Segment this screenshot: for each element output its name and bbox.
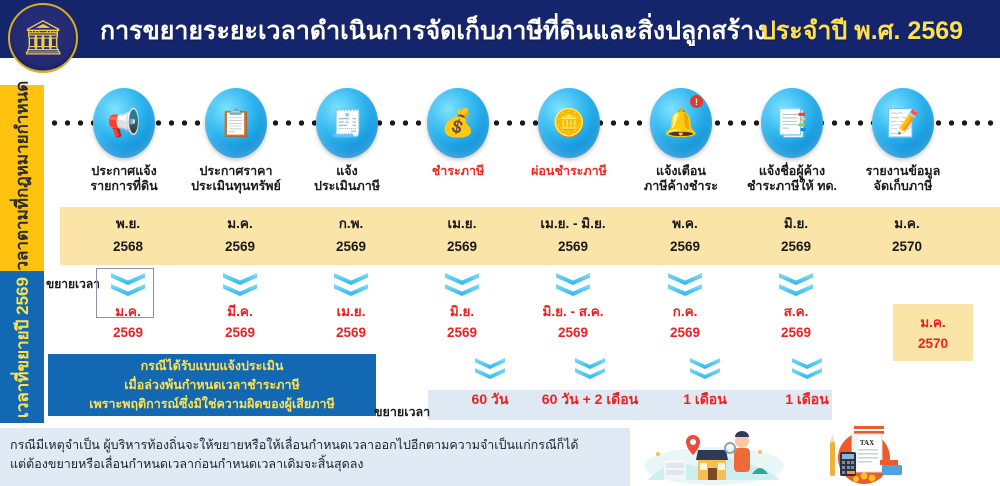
double-chevron-down-icon: [668, 273, 702, 301]
double-chevron-down-icon: [223, 273, 257, 301]
timeline-step-label-line1: ผ่อนชำระภาษี: [513, 164, 625, 179]
tax-calculator-icon-glyph: 🧾: [330, 110, 364, 137]
timeline-step-label: แจ้งเตือนภาษีค้างชำระ: [625, 164, 737, 194]
timeline-step-1: 📢ประกาศแจ้งรายการที่ดิน: [68, 88, 180, 194]
double-chevron-down-icon: [475, 358, 505, 383]
extension-month: มิ.ย. - ส.ค.: [513, 302, 633, 322]
timeline-step-3: 🧾แจ้งประเมินภาษี: [291, 88, 403, 194]
timeline-step-label-line2: ประเมินภาษี: [291, 179, 403, 194]
hand-coin-icon-glyph: 🪙: [552, 110, 586, 137]
statutory-month: พ.ย.: [68, 212, 188, 235]
garuda-emblem-icon: 🏛: [8, 3, 78, 73]
statutory-year: 2569: [736, 235, 856, 258]
statutory-month-cell: เม.ย. - มิ.ย.2569: [513, 212, 633, 258]
timeline-step-label-line1: ชำระภาษี: [402, 164, 514, 179]
double-chevron-down-icon: [334, 273, 368, 301]
statutory-year: 2569: [180, 235, 300, 258]
double-chevron-down-icon: [792, 358, 822, 383]
extension-month: ส.ค.: [736, 302, 856, 322]
tax-document-list-icon: 📑: [761, 88, 823, 158]
duration-text: 1 เดือน: [742, 389, 872, 411]
timeline-step-4: 💰ชำระภาษี: [402, 88, 514, 179]
extension-cell: ม.ค.2569: [68, 273, 188, 343]
footer-note: กรณีมีเหตุจำเป็น ผู้บริหารท้องถิ่นจะให้ข…: [0, 428, 630, 486]
timeline-step-label: ประกาศราคาประเมินทุนทรัพย์: [180, 164, 292, 194]
timeline-step-label: แจ้งชื่อผู้ค้างชำระภาษีให้ ทด.: [736, 164, 848, 194]
hand-coin-icon: 🪙: [538, 88, 600, 158]
statutory-year: 2569: [513, 235, 633, 258]
extension-year: 2569: [291, 323, 411, 343]
statutory-month-cell: ม.ค.2569: [180, 212, 300, 258]
statutory-month: พ.ค.: [625, 212, 745, 235]
money-bag-hand-icon: 💰: [427, 88, 489, 158]
extension-year: 2569: [68, 323, 188, 343]
timeline-step-label-line2: จัดเก็บภาษี: [847, 179, 959, 194]
money-bag-hand-icon-glyph: 💰: [441, 110, 475, 137]
statutory-month-cell: มิ.ย.2569: [736, 212, 856, 258]
page-title-year: ประจำปี พ.ศ. 2569: [760, 11, 963, 51]
alert-bell-icon: 🔔!: [650, 88, 712, 158]
timeline-step-label-line1: แจ้ง: [291, 164, 403, 179]
extension-final-year: 2570: [918, 333, 948, 354]
timeline-step-label-line1: รายงานข้อมูล: [847, 164, 959, 179]
extension-cell: มิ.ย.2569: [402, 273, 522, 343]
duration-row-tag: ขยายเวลา: [374, 402, 430, 422]
timeline-step-label: ผ่อนชำระภาษี: [513, 164, 625, 179]
statutory-month: เม.ย. - มิ.ย.: [513, 212, 633, 235]
footer-note-line-1: กรณีมีเหตุจำเป็น ผู้บริหารท้องถิ่นจะให้ข…: [10, 436, 620, 455]
clipboard-checklist-person-icon-glyph: 📋: [219, 110, 253, 137]
timeline-step-8: 📝รายงานข้อมูลจัดเก็บภาษี: [847, 88, 959, 194]
timeline-step-label-line2: ประเมินทุนทรัพย์: [180, 179, 292, 194]
extension-month: มิ.ย.: [402, 302, 522, 322]
timeline-step-label-line1: แจ้งชื่อผู้ค้าง: [736, 164, 848, 179]
double-chevron-down-icon: [556, 273, 590, 301]
statutory-year: 2568: [68, 235, 188, 258]
duration-text: 60 วัน + 2 เดือน: [525, 389, 655, 411]
sidebar-statutory-period: เวลาตามที่กฎหมายกำหนด: [0, 85, 44, 271]
timeline-step-label-line1: ประกาศแจ้ง: [68, 164, 180, 179]
svg-text:TAX: TAX: [860, 439, 874, 447]
timeline-step-label: ชำระภาษี: [402, 164, 514, 179]
tax-calculator-icon: 🧾: [316, 88, 378, 158]
timeline-step-2: 📋ประกาศราคาประเมินทุนทรัพย์: [180, 88, 292, 194]
statutory-month-cell: พ.ค.2569: [625, 212, 745, 258]
extension-cell: เม.ย.2569: [291, 273, 411, 343]
timeline-step-label-line2: ชำระภาษีให้ ทด.: [736, 179, 848, 194]
tax-document-calculator-illustration: TAX: [800, 424, 920, 486]
extension-final-month: ม.ค.: [920, 312, 945, 333]
extension-month: เม.ย.: [291, 302, 411, 322]
extension-month: ม.ค.: [68, 302, 188, 322]
page-header: 🏛 การขยายระยะเวลาดำเนินการจัดเก็บภาษีที่…: [0, 0, 1000, 58]
extension-year: 2569: [180, 323, 300, 343]
extension-cell: มี.ค.2569: [180, 273, 300, 343]
extension-cell: ส.ค.2569: [736, 273, 856, 343]
timeline-step-label-line2: รายการที่ดิน: [68, 179, 180, 194]
extension-month: มี.ค.: [180, 302, 300, 322]
megaphone-icon: 📢: [93, 88, 155, 158]
timeline-step-label-line1: แจ้งเตือน: [625, 164, 737, 179]
extension-cell: ก.ค.2569: [625, 273, 745, 343]
extension-row: ขยายเวลา ม.ค.2569มี.ค.2569เม.ย.2569มิ.ย.…: [0, 265, 1000, 365]
timeline-step-label-line1: ประกาศราคา: [180, 164, 292, 179]
double-chevron-down-icon: [575, 358, 605, 383]
statutory-year: 2569: [291, 235, 411, 258]
extension-year: 2569: [625, 323, 745, 343]
statutory-year: 2570: [847, 235, 967, 258]
house-inspector-illustration: [640, 424, 788, 486]
megaphone-icon-glyph: 📢: [107, 110, 141, 137]
timeline-step-7: 📑แจ้งชื่อผู้ค้างชำระภาษีให้ ทด.: [736, 88, 848, 194]
timeline-step-label-line2: ภาษีค้างชำระ: [625, 179, 737, 194]
double-chevron-down-icon: [779, 273, 813, 301]
duration-cell: 60 วัน + 2 เดือน: [525, 358, 655, 411]
statutory-month-cell: ก.พ.2569: [291, 212, 411, 258]
duration-cell: 1 เดือน: [742, 358, 872, 411]
alert-badge-icon: !: [690, 95, 703, 108]
statutory-year: 2569: [402, 235, 522, 258]
sidebar-statutory-label: เวลาตามที่กฎหมายกำหนด: [9, 80, 36, 276]
tax-document-list-icon-glyph: 📑: [775, 110, 809, 137]
statutory-month: เม.ย.: [402, 212, 522, 235]
timeline-step-5: 🪙ผ่อนชำระภาษี: [513, 88, 625, 179]
clipboard-checklist-person-icon: 📋: [205, 88, 267, 158]
statutory-month-cell: ม.ค.2570: [847, 212, 967, 258]
double-chevron-down-icon: [445, 273, 479, 301]
extension-year: 2569: [402, 323, 522, 343]
clipboard-report-icon-glyph: 📝: [886, 110, 920, 137]
statutory-month: ม.ค.: [847, 212, 967, 235]
clipboard-report-icon: 📝: [872, 88, 934, 158]
statutory-month-cell: เม.ย.2569: [402, 212, 522, 258]
timeline-step-label: แจ้งประเมินภาษี: [291, 164, 403, 194]
page-title: การขยายระยะเวลาดำเนินการจัดเก็บภาษีที่ดิ…: [100, 11, 766, 51]
timeline-step-label: ประกาศแจ้งรายการที่ดิน: [68, 164, 180, 194]
duration-row: ขยายเวลา 60 วัน60 วัน + 2 เดือน1 เดือน1 …: [0, 352, 1000, 420]
timeline-step-label: รายงานข้อมูลจัดเก็บภาษี: [847, 164, 959, 194]
extension-year: 2569: [736, 323, 856, 343]
infographic-page: 🏛 การขยายระยะเวลาดำเนินการจัดเก็บภาษีที่…: [0, 0, 1000, 486]
garuda-glyph: 🏛: [21, 21, 64, 55]
statutory-month-cell: พ.ย.2568: [68, 212, 188, 258]
double-chevron-down-icon: [690, 358, 720, 383]
statutory-year: 2569: [625, 235, 745, 258]
alert-bell-icon-glyph: 🔔: [664, 110, 698, 137]
footer-note-line-2: แต่ต้องขยายหรือเลื่อนกำหนดเวลาก่อนกำหนดเ…: [10, 455, 620, 474]
statutory-month: ก.พ.: [291, 212, 411, 235]
statutory-month: ม.ค.: [180, 212, 300, 235]
timeline-step-6: 🔔!แจ้งเตือนภาษีค้างชำระ: [625, 88, 737, 194]
extension-year: 2569: [513, 323, 633, 343]
statutory-month: มิ.ย.: [736, 212, 856, 235]
extension-cell: มิ.ย. - ส.ค.2569: [513, 273, 633, 343]
extension-month: ก.ค.: [625, 302, 745, 322]
double-chevron-down-icon: [111, 273, 145, 301]
